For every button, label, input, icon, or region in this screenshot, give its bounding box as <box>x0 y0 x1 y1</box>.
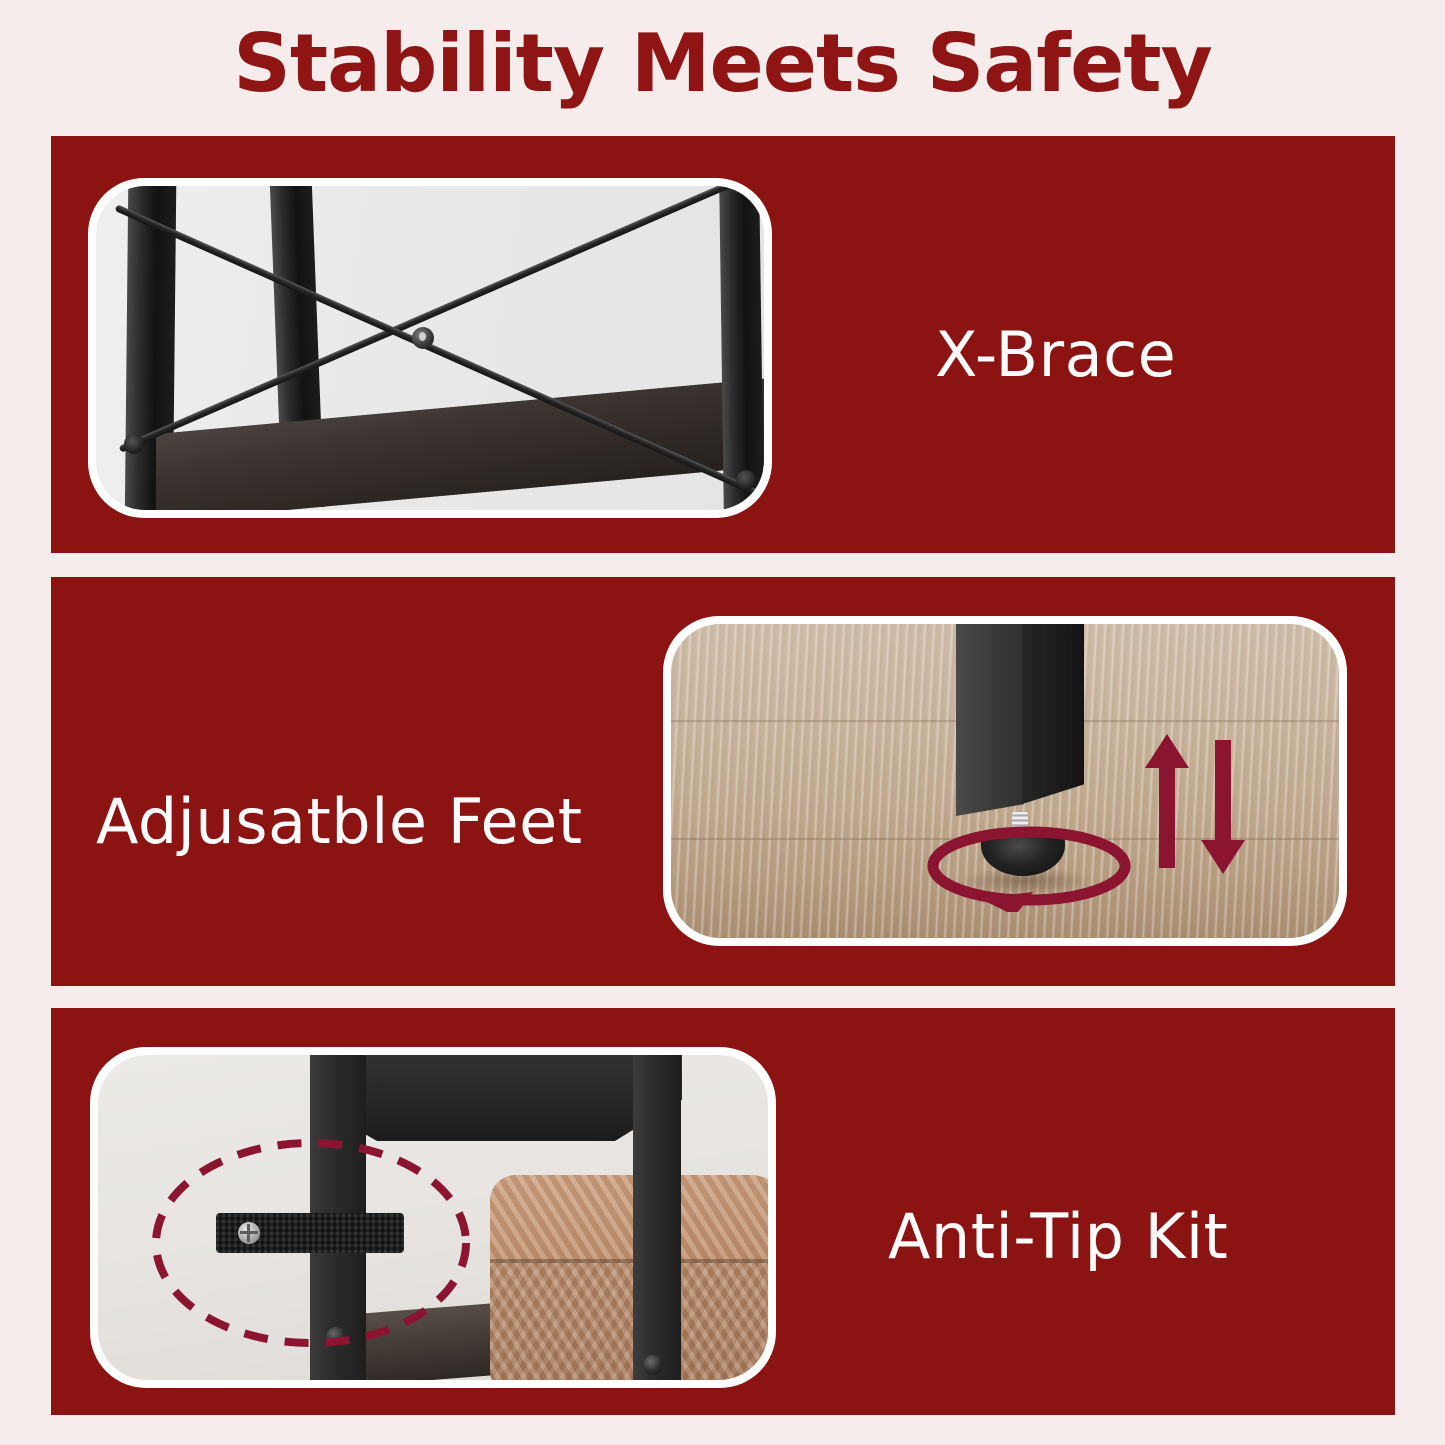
dashed-highlight-ellipse-icon <box>146 1133 476 1353</box>
bolt-right-icon <box>736 470 756 490</box>
panel-label-anti-tip-kit: Anti-Tip Kit <box>888 1200 1228 1273</box>
rotation-ring-arrow-icon <box>923 820 1135 912</box>
page-title: Stability Meets Safety <box>0 24 1445 104</box>
table-leg-side <box>1022 624 1084 816</box>
frame-post-right <box>633 1055 681 1380</box>
bolt-right-icon <box>643 1355 663 1375</box>
metal-leg-right-icon <box>719 186 764 510</box>
up-down-arrows-icon <box>1141 734 1249 874</box>
basket-lid <box>490 1175 768 1263</box>
x-brace-photo-card <box>88 178 772 518</box>
adjustable-feet-photo-card <box>663 616 1347 946</box>
adjustable-feet-photo <box>671 624 1339 938</box>
table-leg-icon <box>956 624 1084 818</box>
woven-basket <box>490 1175 768 1380</box>
panel-label-x-brace: X-Brace <box>935 318 1176 391</box>
anti-tip-kit-photo <box>98 1055 768 1380</box>
panel-label-adjustable-feet: Adjusatble Feet <box>96 785 583 858</box>
table-leg-face <box>956 624 1024 816</box>
anti-tip-kit-photo-card <box>90 1047 776 1388</box>
center-hub-icon <box>412 327 434 349</box>
x-brace-photo <box>96 186 764 510</box>
bolt-left-icon <box>124 434 144 454</box>
